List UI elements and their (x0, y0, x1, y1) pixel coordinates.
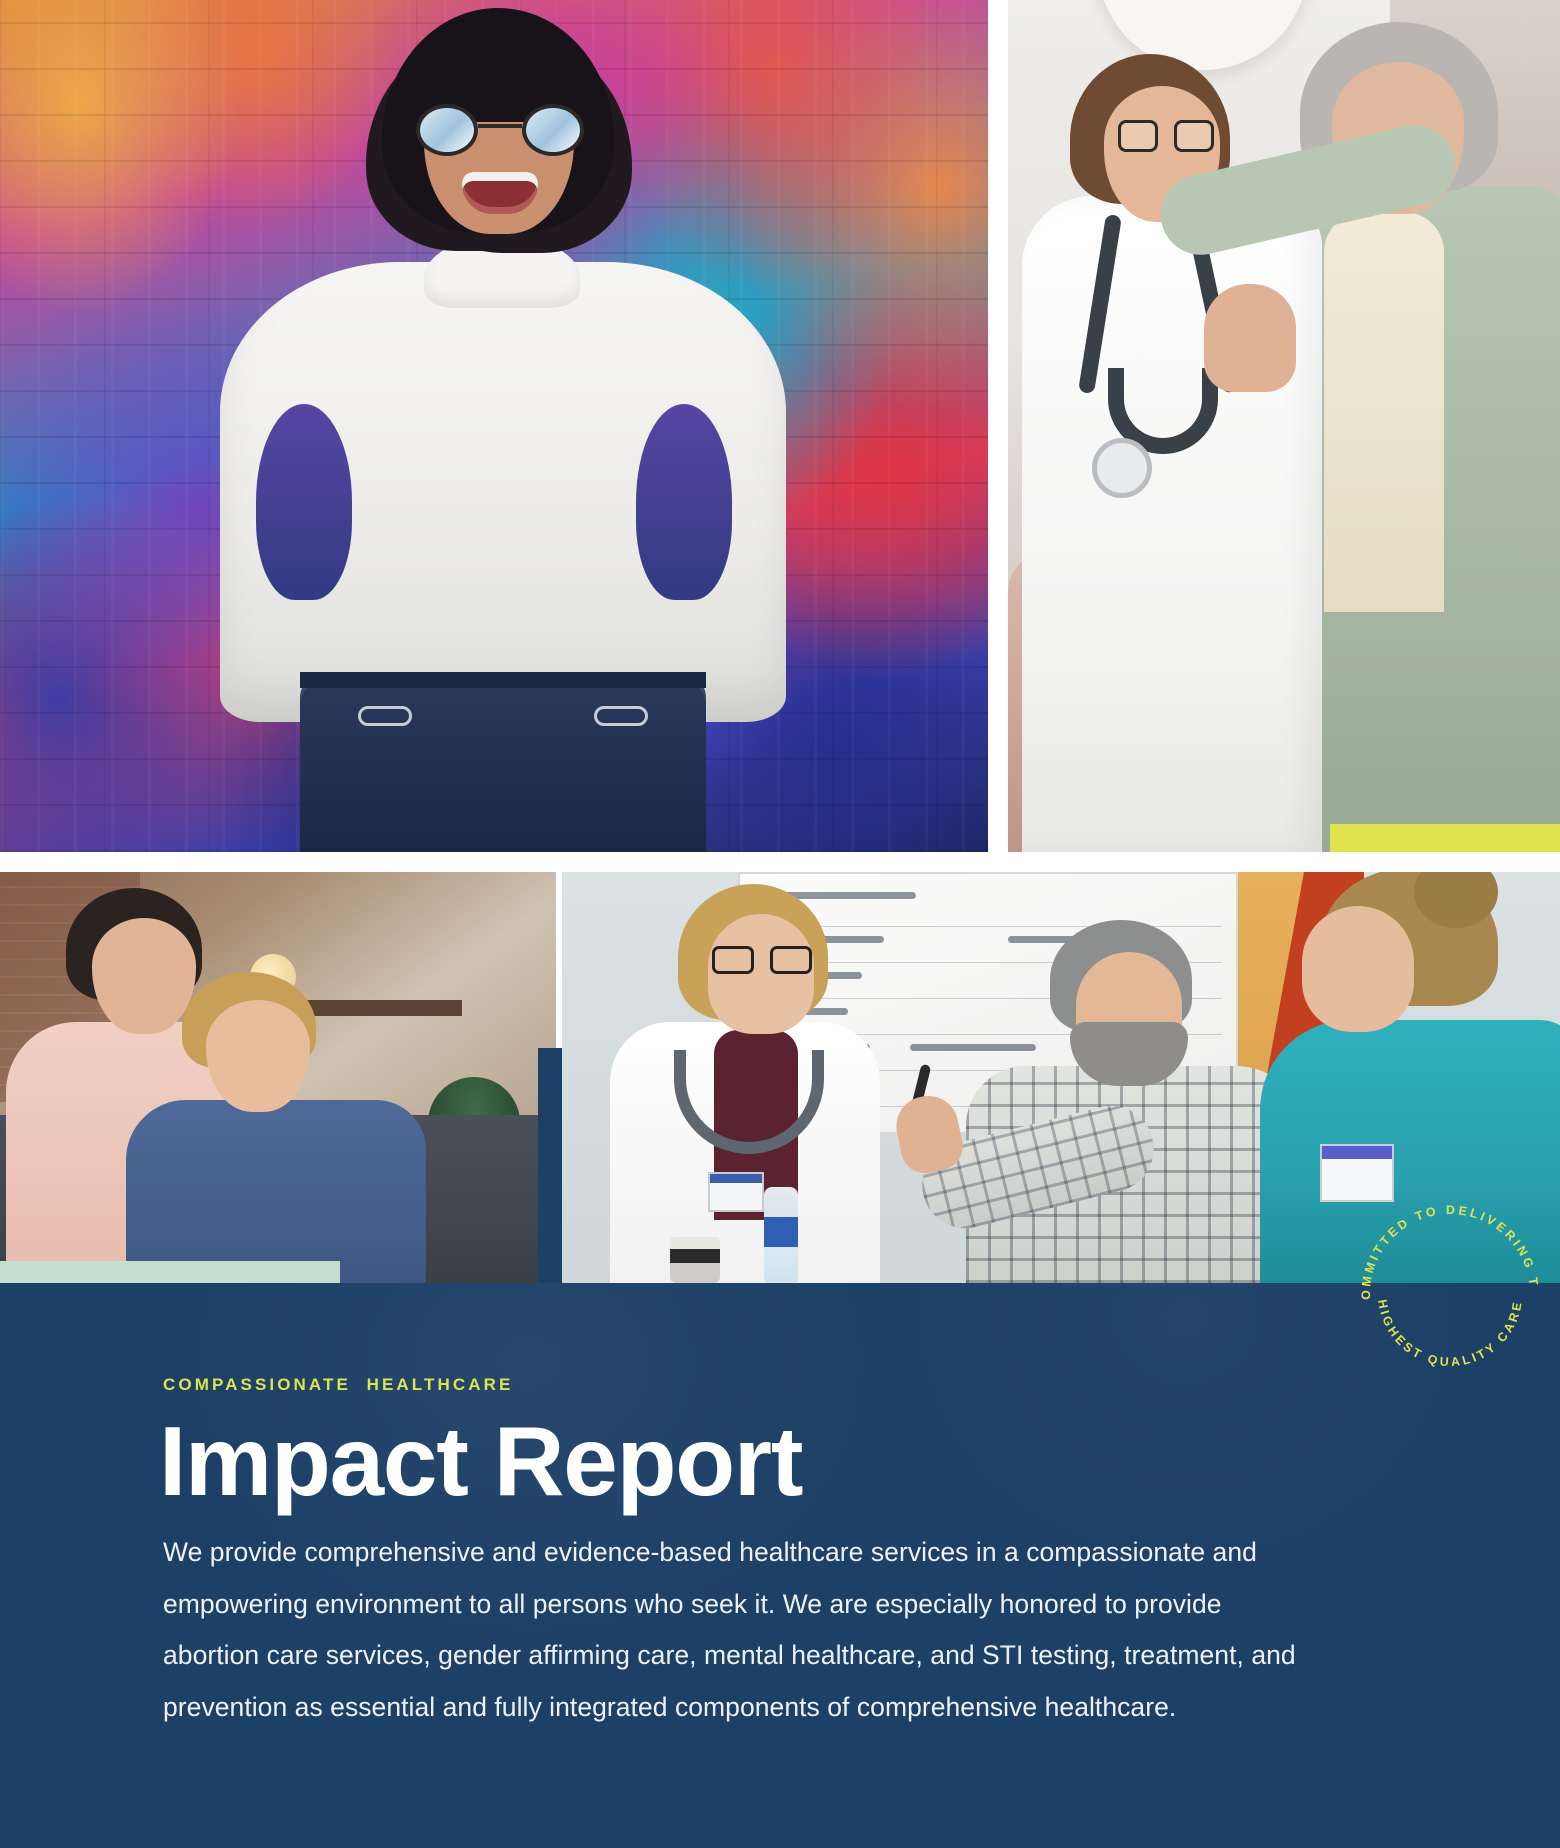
photo-graffiti-portrait (0, 0, 988, 852)
nurse-face (1302, 906, 1414, 1032)
eyebrow-label: COMPASSIONATE HEALTHCARE (163, 1375, 513, 1395)
person-one-face (92, 918, 196, 1034)
turtleneck-collar (424, 236, 580, 308)
jeans-hardware-right (594, 706, 648, 726)
jeans-waistband (300, 672, 706, 688)
nurse-id-badge (1320, 1144, 1394, 1202)
arm-gap-right (636, 404, 732, 600)
person-two-blue-shirt (126, 1100, 426, 1283)
person-two-face (206, 1000, 310, 1112)
portrait-subject (124, 0, 864, 852)
arm-gap-left (256, 404, 352, 600)
water-bottle (764, 1187, 798, 1283)
seal-top-arc-text: COMMITTED TO DELIVERING THE (1352, 1196, 1541, 1300)
jeans-hardware-left (358, 706, 412, 726)
yellow-accent-bar (1330, 824, 1560, 852)
photo-couple-on-sofa (0, 872, 556, 1283)
doctor-glasses-icon (1118, 120, 1214, 154)
quality-care-seal-badge: COMMITTED TO DELIVERING THE HIGHEST QUAL… (1352, 1196, 1548, 1392)
dark-jeans (300, 672, 706, 852)
seal-bottom-arc-text: HIGHEST QUALITY CARE (1375, 1298, 1525, 1369)
doctor-glasses-icon (712, 946, 812, 976)
patient-inner-top (1324, 212, 1444, 612)
stethoscope-bell-icon (1092, 438, 1152, 498)
mint-accent-bar (0, 1261, 340, 1283)
photo-doctor-with-patient (1008, 0, 1560, 852)
page-title: Impact Report (159, 1409, 802, 1515)
impact-report-page: COMPASSIONATE HEALTHCARE Impact Report W… (0, 0, 1560, 1848)
doctor-id-badge (708, 1172, 764, 1212)
mission-statement-paragraph: We provide comprehensive and evidence-ba… (163, 1527, 1303, 1734)
navy-vertical-accent-strip (538, 1048, 562, 1283)
clasped-hands (1204, 284, 1296, 392)
round-glasses-icon (416, 104, 584, 156)
coffee-cup (670, 1237, 720, 1283)
